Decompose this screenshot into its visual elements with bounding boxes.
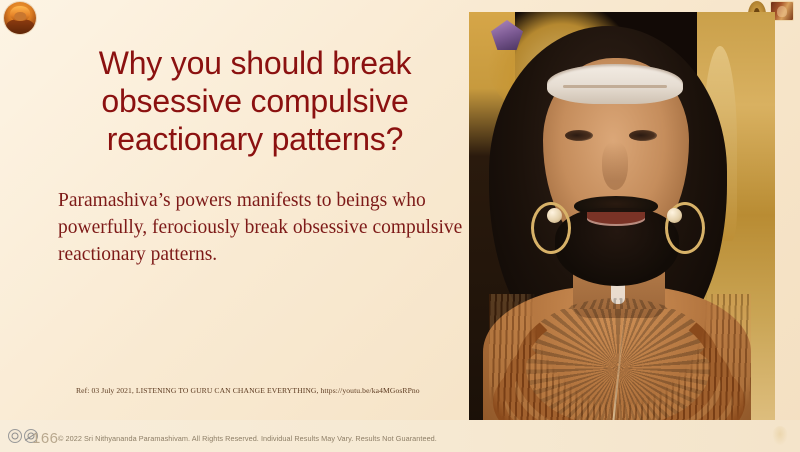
photo-ear-bead-left — [547, 208, 562, 223]
footer-watermark — [772, 426, 788, 446]
copyright-circle-icon — [8, 429, 22, 443]
photo-nose — [602, 142, 628, 190]
photo-eye-left — [565, 130, 593, 141]
guru-photograph — [469, 12, 775, 436]
presentation-slide: Why you should break obsessive compulsiv… — [0, 0, 800, 452]
guru-portrait-logo — [4, 2, 36, 34]
slide-footer-bar: 166 © 2022 Sri Nithyananda Paramashivam.… — [0, 420, 800, 452]
photo-ear-bead-right — [667, 208, 682, 223]
body-paragraph: Paramashiva’s powers manifests to beings… — [58, 188, 470, 269]
photo-vibhuti-forehead-stripes — [547, 64, 683, 104]
reference-citation: Ref: 03 July 2021, LISTENING TO GURU CAN… — [76, 386, 456, 396]
photo-eye-right — [629, 130, 657, 141]
page-title: Why you should break obsessive compulsiv… — [60, 45, 450, 158]
photo-smile — [587, 212, 645, 226]
logo-body-shape — [6, 19, 34, 34]
copyright-notice: © 2022 Sri Nithyananda Paramashivam. All… — [58, 434, 437, 443]
logo-face-shape — [14, 12, 26, 20]
page-number: 166 — [32, 430, 59, 447]
